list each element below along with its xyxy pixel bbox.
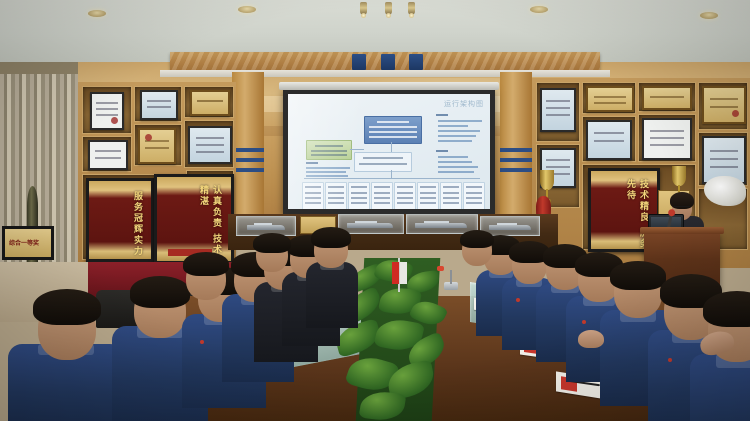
attendee-head	[186, 258, 226, 300]
framed-certificate	[90, 92, 124, 130]
framed-certificate	[138, 128, 176, 164]
attendee-head	[614, 268, 662, 318]
spot-light	[360, 2, 367, 15]
cornice-accent-block	[352, 54, 366, 70]
honor-banner: 服务冠辉实力	[86, 178, 154, 262]
attendee-body	[690, 354, 750, 421]
ship-model	[489, 225, 531, 230]
attendee-head	[38, 298, 96, 360]
projection-screen: 运行架构图	[283, 88, 495, 214]
ceiling-light	[88, 10, 106, 17]
award-plaque-left: 综合一等奖	[2, 226, 54, 260]
framed-certificate	[642, 86, 692, 110]
attendee-head	[462, 234, 492, 266]
honor-banner: 认真负责 技术精湛	[154, 174, 234, 264]
ship-model	[247, 225, 285, 230]
ceiling-light	[238, 6, 256, 13]
framed-certificate	[190, 90, 230, 116]
desk-flag	[392, 262, 399, 284]
cornice-lip	[160, 70, 610, 77]
spot-light	[408, 2, 415, 15]
org-unit-box	[440, 182, 462, 209]
mic-stem	[450, 270, 452, 284]
attendee-head	[512, 246, 547, 284]
meeting-room-photo: 服务冠辉实力 认真负责 技术精湛 综合一等奖	[0, 0, 750, 421]
org-unit-box	[463, 182, 485, 209]
cornice-accent-block	[381, 54, 395, 70]
attendee-hand	[578, 330, 604, 348]
framed-certificate	[88, 140, 128, 170]
framed-certificate	[586, 86, 634, 112]
attendee-head	[314, 232, 348, 268]
certificate-shelf-left: 服务冠辉实力 认真负责 技术精湛	[78, 82, 236, 262]
desk-flag-second	[400, 262, 407, 284]
slide-surface: 运行架构图	[288, 94, 490, 209]
screen-roller-bar	[279, 82, 499, 90]
attendee-head	[256, 238, 288, 272]
curtain-rail	[0, 62, 78, 74]
ship-model	[415, 223, 467, 228]
slide-title: 运行架构图	[444, 99, 484, 109]
podium-top	[640, 227, 724, 234]
spot-light	[385, 2, 392, 15]
framed-certificate	[540, 88, 576, 132]
ship-model	[347, 223, 393, 228]
attendee-body	[306, 262, 358, 328]
attendee-head	[134, 284, 186, 338]
framed-certificate	[642, 118, 692, 160]
org-unit-box	[417, 182, 439, 209]
ceiling-light	[700, 12, 718, 19]
screen-glare	[288, 94, 409, 209]
framed-certificate	[140, 90, 178, 120]
framed-certificate	[702, 86, 746, 124]
glasses-icon	[674, 206, 690, 211]
ceiling-light	[530, 6, 548, 13]
mic-indicator	[437, 266, 444, 271]
framed-certificate	[586, 120, 632, 160]
framed-certificate	[188, 126, 232, 164]
cornice-accent-block	[409, 54, 423, 70]
